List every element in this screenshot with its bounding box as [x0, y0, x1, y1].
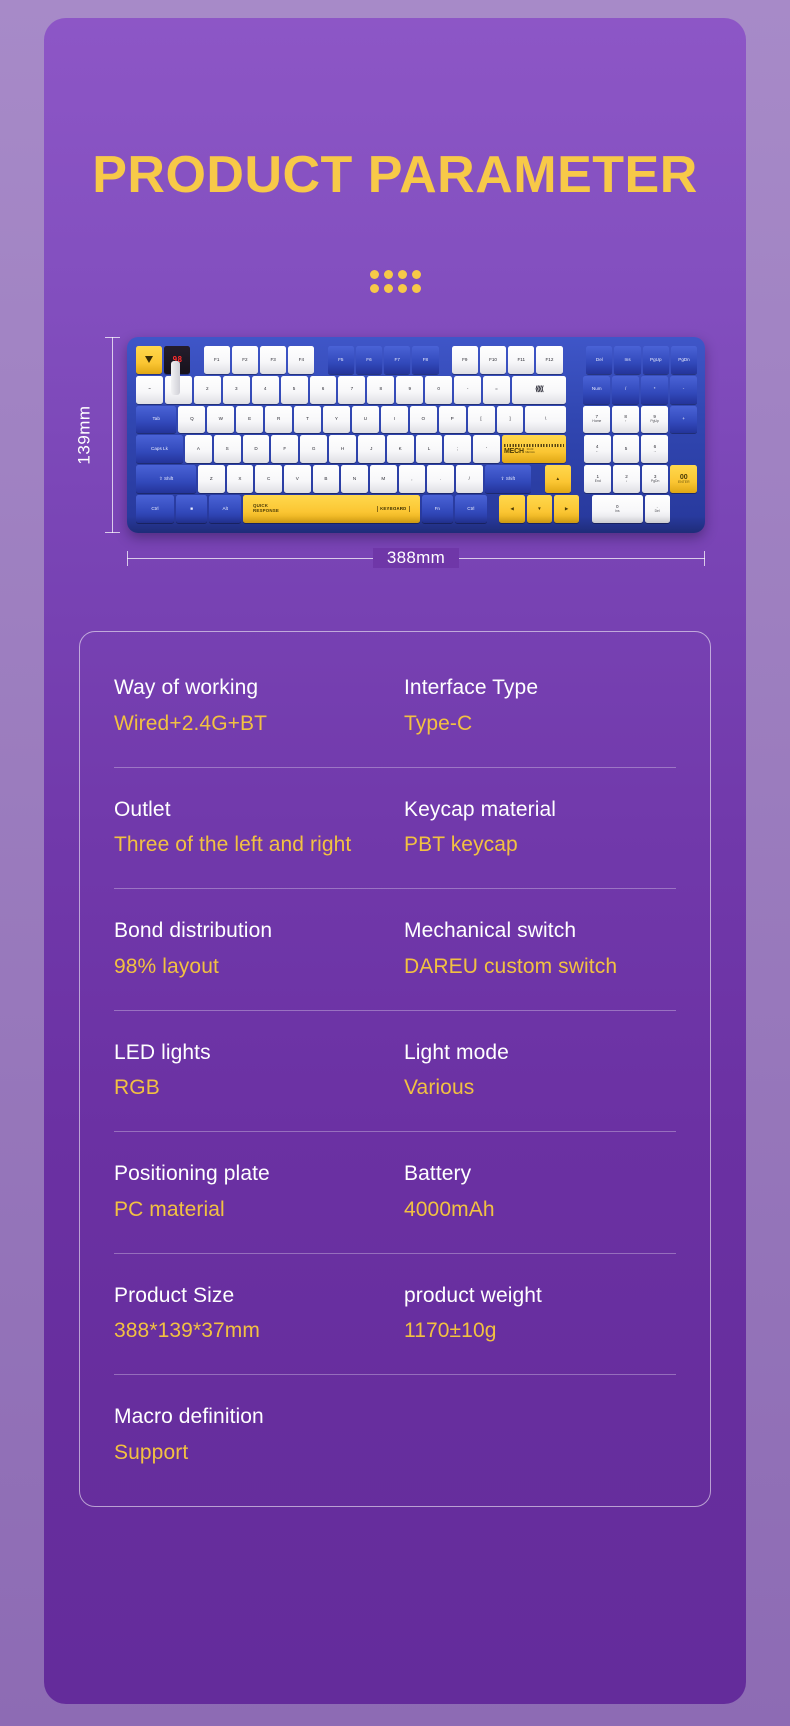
- spec-label: Mechanical switch: [404, 919, 676, 944]
- key-f1: F1: [204, 346, 230, 374]
- key-o: O: [410, 406, 437, 434]
- key-shift-left-label: Shift: [164, 477, 173, 482]
- key-numpad-enter-sub: ENTER: [678, 481, 690, 484]
- key-numpad-1-sub: End: [595, 480, 601, 483]
- spec-divider: [114, 1253, 676, 1254]
- spec-value: RGB: [114, 1076, 404, 1101]
- spec-value: 388*139*37mm: [114, 1319, 404, 1344]
- spec-label: product weight: [404, 1284, 676, 1309]
- key-3: 3: [223, 376, 250, 404]
- keyboard-row-shift: ⇧ Shift Z X C V B N M , . / ⇧ Shift ▲: [136, 465, 697, 493]
- key-y: Y: [323, 406, 350, 434]
- product-image-block: 139mm 98 F1 F2 F3 F4 F5: [75, 331, 715, 581]
- key-numpad-divide: /: [612, 376, 639, 404]
- key-f4: F4: [288, 346, 314, 374]
- spec-value: Three of the left and right: [114, 833, 404, 858]
- spec-value: Wired+2.4G+BT: [114, 712, 404, 737]
- dot-grid-ornament: [370, 270, 421, 293]
- key-numpad-4-stack: 4 ←: [596, 445, 599, 454]
- mech-key-sub-stack: 00-00 MECHA: [525, 449, 534, 455]
- spec-cell-left: Macro definition Support: [114, 1405, 404, 1466]
- key-win: ■: [176, 495, 208, 523]
- triangle-logo-icon: [145, 356, 153, 363]
- key-arrow-right: ▶: [554, 495, 579, 523]
- keyboard-row-bottom: Ctrl ■ Alt QUICK RESPONSE KEYBOARD Fn Ct…: [136, 495, 697, 523]
- key-minus: -: [454, 376, 481, 404]
- key-numpad-0-sub: Ins: [615, 510, 620, 513]
- key-equals: =: [483, 376, 510, 404]
- key-j: J: [358, 435, 385, 463]
- ornament-dot: [370, 284, 379, 293]
- key-g: G: [300, 435, 327, 463]
- key-numpad-9: 9 PgUp: [641, 406, 668, 434]
- ornament-dot: [370, 270, 379, 279]
- keyboard-row-qwerty: Tab Q W E R T Y U I O P [ ] \: [136, 406, 697, 434]
- caliper-tick-bottom: [105, 532, 120, 533]
- key-bracket-right: ]: [497, 406, 524, 434]
- keyboard-row-number: ~ 1 2 3 4 5 6 7 8 9 0 - = ⟨⟨⟨⟨⟨: [136, 376, 697, 404]
- spec-label: LED lights: [114, 1041, 404, 1066]
- key-arrow-down: ▼: [527, 495, 552, 523]
- ornament-dot: [384, 284, 393, 293]
- key-ctrl-right: Ctrl: [455, 495, 487, 523]
- spec-value: Type-C: [404, 712, 676, 737]
- caliper-line-vertical: [112, 337, 113, 533]
- key-spacer: [670, 435, 697, 463]
- spec-cell-right: Keycap material PBT keycap: [404, 798, 676, 859]
- spacebar-brand-text: QUICK RESPONSE: [253, 504, 279, 514]
- key-f12: F12: [536, 346, 562, 374]
- key-pgup: PgUp: [643, 346, 669, 374]
- key-q: Q: [178, 406, 205, 434]
- key-spacer: [581, 495, 590, 523]
- spec-value: PBT keycap: [404, 833, 676, 858]
- key-numpad-6: 6 →: [641, 435, 668, 463]
- key-capslock: Caps Lk: [136, 435, 183, 463]
- key-numpad-multiply: *: [641, 376, 668, 404]
- spec-cell-left: Bond distribution 98% layout: [114, 919, 404, 980]
- key-w: W: [207, 406, 234, 434]
- key-p: P: [439, 406, 466, 434]
- key-numpad-9-sub: PgUp: [650, 420, 658, 423]
- key-n: N: [341, 465, 368, 493]
- ornament-dot: [412, 270, 421, 279]
- spec-cell-left: Outlet Three of the left and right: [114, 798, 404, 859]
- key-enter-mech: MECH 00-00 MECHA: [502, 435, 566, 463]
- key-backslash: \: [525, 406, 565, 434]
- key-period: .: [427, 465, 454, 493]
- key-pgdn: PgDn: [671, 346, 697, 374]
- key-numpad-6-sub: →: [653, 450, 656, 453]
- spec-divider: [114, 1010, 676, 1011]
- spec-label: Way of working: [114, 676, 404, 701]
- key-numpad-0: 0 Ins: [592, 495, 642, 523]
- key-l: L: [416, 435, 443, 463]
- key-backspace: ⟨⟨⟨⟨⟨: [512, 376, 566, 404]
- height-dimension-label: 139mm: [75, 405, 95, 464]
- key-quote: ': [473, 435, 500, 463]
- key-i: I: [381, 406, 408, 434]
- height-dimension-caliper: 139mm: [83, 337, 123, 533]
- key-s: S: [214, 435, 241, 463]
- spec-divider: [114, 888, 676, 889]
- key-fn: Fn: [422, 495, 454, 523]
- spec-cell-left: Positioning plate PC material: [114, 1162, 404, 1223]
- key-numpad-decimal: . Del: [645, 495, 670, 523]
- key-arrow-up: ▲: [545, 465, 572, 493]
- key-f6: F6: [356, 346, 382, 374]
- spec-row: Outlet Three of the left and right Keyca…: [114, 798, 676, 859]
- key-numpad-decimal-stack: . Del: [655, 505, 660, 514]
- key-b: B: [313, 465, 340, 493]
- key-f: F: [271, 435, 298, 463]
- key-6: 6: [310, 376, 337, 404]
- spec-cell-left: Way of working Wired+2.4G+BT: [114, 676, 404, 737]
- key-f5: F5: [328, 346, 354, 374]
- key-a: A: [185, 435, 212, 463]
- spec-row: Macro definition Support: [114, 1405, 676, 1466]
- key-numlock: Num: [583, 376, 610, 404]
- spec-row: Way of working Wired+2.4G+BT Interface T…: [114, 676, 676, 737]
- spec-cell-right: Light mode Various: [404, 1041, 676, 1102]
- width-dimension-label: 388mm: [378, 548, 454, 568]
- key-numpad-0-stack: 0 Ins: [615, 505, 620, 514]
- mech-key-label: MECH: [504, 448, 524, 455]
- poster-panel: PRODUCT PARAMETER 139mm: [44, 18, 746, 1704]
- key-r: R: [265, 406, 292, 434]
- key-numpad-4: 4 ←: [584, 435, 611, 463]
- spec-row: Product Size 388*139*37mm product weight…: [114, 1284, 676, 1345]
- ornament-dot: [398, 270, 407, 279]
- key-numpad-7-stack: 7 Home: [592, 415, 601, 424]
- spec-value: Support: [114, 1441, 404, 1466]
- key-numpad-5-stack: 5: [625, 447, 628, 452]
- mech-key-text-row: MECH 00-00 MECHA: [504, 448, 564, 455]
- spec-row: Bond distribution 98% layout Mechanical …: [114, 919, 676, 980]
- caliper-tick-top: [105, 337, 120, 338]
- key-f2: F2: [232, 346, 258, 374]
- key-f3: F3: [260, 346, 286, 374]
- spec-value: 1170±10g: [404, 1319, 676, 1344]
- spec-row: Positioning plate PC material Battery 40…: [114, 1162, 676, 1223]
- spec-cell-left: Product Size 388*139*37mm: [114, 1284, 404, 1345]
- key-ins: Ins: [614, 346, 640, 374]
- key-h: H: [329, 435, 356, 463]
- key-spacer: [672, 495, 697, 523]
- key-numpad-3-sub: PgDn: [651, 480, 659, 483]
- key-x: X: [227, 465, 254, 493]
- usb-port-nub: [171, 361, 180, 395]
- key-arrow-left: ◀: [499, 495, 524, 523]
- key-f8: F8: [412, 346, 438, 374]
- spec-divider: [114, 1374, 676, 1375]
- key-m: M: [370, 465, 397, 493]
- mech-key-sub-bottom: MECHA: [525, 452, 534, 455]
- spec-value: 4000mAh: [404, 1198, 676, 1223]
- mech-stripe-decor: [504, 444, 564, 447]
- key-f9: F9: [452, 346, 478, 374]
- spacebar-right-text: KEYBOARD: [377, 506, 409, 512]
- spacebar-line2: RESPONSE: [253, 508, 279, 513]
- spec-label: Light mode: [404, 1041, 676, 1066]
- key-tilde: ~: [136, 376, 163, 404]
- spec-divider: [114, 767, 676, 768]
- key-shift-left: ⇧ Shift: [136, 465, 196, 493]
- key-ctrl-left: Ctrl: [136, 495, 174, 523]
- ornament-dot: [412, 284, 421, 293]
- key-e: E: [236, 406, 263, 434]
- key-numpad-7: 7 Home: [583, 406, 610, 434]
- spec-label: Bond distribution: [114, 919, 404, 944]
- ornament-dot: [384, 270, 393, 279]
- spec-row: LED lights RGB Light mode Various: [114, 1041, 676, 1102]
- key-numpad-2-stack: 2 ↓: [625, 475, 628, 484]
- key-numpad-8-stack: 8 ↑: [624, 415, 627, 424]
- key-k: K: [387, 435, 414, 463]
- spec-cell-right: Battery 4000mAh: [404, 1162, 676, 1223]
- key-numpad-2-sub: ↓: [626, 480, 628, 483]
- spec-label: Battery: [404, 1162, 676, 1187]
- spec-value: DAREU custom switch: [404, 955, 676, 980]
- key-spacer: [489, 495, 498, 523]
- spec-card: Way of working Wired+2.4G+BT Interface T…: [79, 631, 711, 1507]
- key-f7: F7: [384, 346, 410, 374]
- key-numpad-9-stack: 9 PgUp: [650, 415, 658, 424]
- key-u: U: [352, 406, 379, 434]
- side-indicator-strip: [568, 435, 581, 463]
- key-numpad-plus: +: [670, 406, 697, 434]
- spec-label: Macro definition: [114, 1405, 404, 1430]
- spec-divider: [114, 1131, 676, 1132]
- side-indicator-strip: [568, 376, 581, 404]
- keyboard-row-home: Caps Lk A S D F G H J K L ; ': [136, 435, 697, 463]
- key-4: 4: [252, 376, 279, 404]
- key-numpad-3-stack: 3 PgDn: [651, 475, 659, 484]
- key-numpad-8: 8 ↑: [612, 406, 639, 434]
- key-spacer: [565, 346, 585, 374]
- key-v: V: [284, 465, 311, 493]
- key-numpad-decimal-sub: Del: [655, 510, 660, 513]
- key-del: Del: [586, 346, 612, 374]
- key-shift-right: ⇧ Shift: [485, 465, 532, 493]
- key-z: Z: [198, 465, 225, 493]
- key-7: 7: [338, 376, 365, 404]
- caliper-tick-left: [127, 551, 128, 566]
- key-numpad-3: 3 PgDn: [642, 465, 669, 493]
- key-spacer: [533, 465, 542, 493]
- key-spacer: [316, 346, 325, 374]
- spec-label: Keycap material: [404, 798, 676, 823]
- key-bracket-left: [: [468, 406, 495, 434]
- spec-cell-right: [404, 1405, 676, 1466]
- key-t: T: [294, 406, 321, 434]
- key-numpad-7-sub: Home: [592, 420, 601, 423]
- side-indicator-strip: [568, 406, 581, 434]
- key-d: D: [243, 435, 270, 463]
- spec-label: Positioning plate: [114, 1162, 404, 1187]
- spec-label: Outlet: [114, 798, 404, 823]
- key-numpad-minus: -: [670, 376, 697, 404]
- key-shift-right-label: Shift: [506, 477, 515, 482]
- spec-value: 98% layout: [114, 955, 404, 980]
- key-2: 2: [194, 376, 221, 404]
- key-spacer: [192, 346, 201, 374]
- keyboard-row-function: 98 F1 F2 F3 F4 F5 F6 F7 F8 F9 F10: [136, 346, 697, 374]
- key-comma: ,: [399, 465, 426, 493]
- key-8: 8: [367, 376, 394, 404]
- key-tab: Tab: [136, 406, 176, 434]
- key-numpad-4-sub: ←: [596, 450, 599, 453]
- page-title: PRODUCT PARAMETER: [92, 149, 698, 201]
- spec-label: Product Size: [114, 1284, 404, 1309]
- key-5: 5: [281, 376, 308, 404]
- spec-cell-right: Interface Type Type-C: [404, 676, 676, 737]
- key-numpad-enter-stack: 00 ENTER: [678, 474, 690, 485]
- key-numpad-enter: 00 ENTER: [670, 465, 697, 493]
- ornament-dot: [398, 284, 407, 293]
- key-0: 0: [425, 376, 452, 404]
- key-numpad-5: 5: [613, 435, 640, 463]
- width-dimension-caliper: 388mm: [127, 545, 705, 571]
- key-c: C: [255, 465, 282, 493]
- key-9: 9: [396, 376, 423, 404]
- caliper-tick-right: [704, 551, 705, 566]
- spec-list: Way of working Wired+2.4G+BT Interface T…: [80, 676, 710, 1466]
- key-f10: F10: [480, 346, 506, 374]
- key-numpad-5-label: 5: [625, 447, 628, 452]
- key-spacer: [573, 465, 582, 493]
- key-spacer: [441, 346, 450, 374]
- spec-label: Interface Type: [404, 676, 676, 701]
- key-slash: /: [456, 465, 483, 493]
- spec-value: Various: [404, 1076, 676, 1101]
- spec-cell-right: product weight 1170±10g: [404, 1284, 676, 1345]
- spec-value: PC material: [114, 1198, 404, 1223]
- key-spacebar: QUICK RESPONSE KEYBOARD: [243, 495, 420, 523]
- spec-cell-left: LED lights RGB: [114, 1041, 404, 1102]
- key-numpad-8-sub: ↑: [625, 420, 627, 423]
- key-numpad-1: 1 End: [584, 465, 611, 493]
- key-logo: [136, 346, 162, 374]
- key-alt-left: Alt: [209, 495, 241, 523]
- key-numpad-6-stack: 6 →: [653, 445, 656, 454]
- key-numpad-1-stack: 1 End: [595, 475, 601, 484]
- key-f11: F11: [508, 346, 534, 374]
- key-numpad-2: 2 ↓: [613, 465, 640, 493]
- poster-frame: PRODUCT PARAMETER 139mm: [0, 0, 790, 1726]
- spec-cell-right: Mechanical switch DAREU custom switch: [404, 919, 676, 980]
- keyboard-product-photo: 98 F1 F2 F3 F4 F5 F6 F7 F8 F9 F10: [127, 337, 705, 533]
- chevron-left-icon: ⟨⟨⟨⟨⟨: [535, 386, 543, 393]
- key-semicolon: ;: [444, 435, 471, 463]
